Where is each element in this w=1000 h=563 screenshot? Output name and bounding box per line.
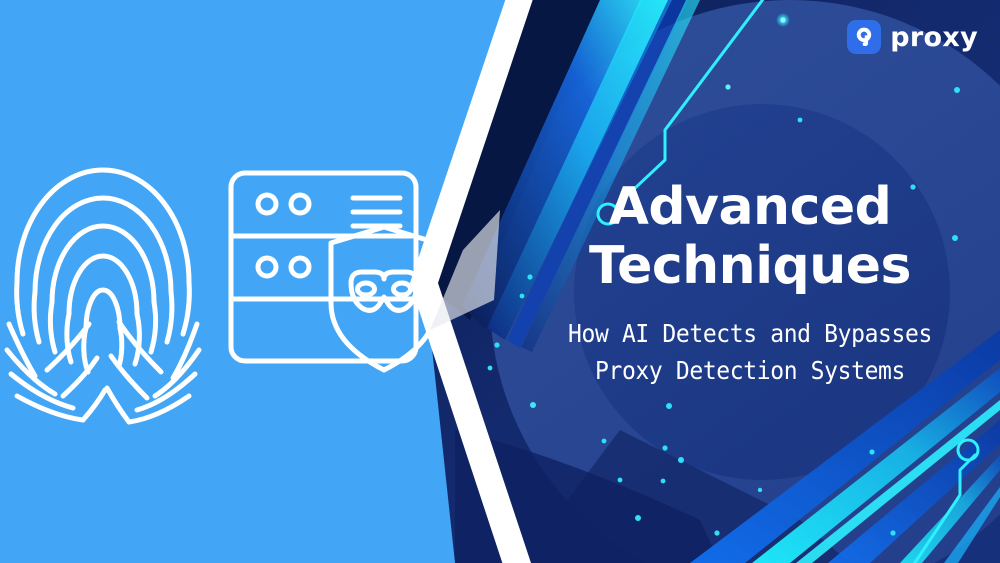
page-title: Advanced Techniques: [520, 178, 980, 297]
headline-line-1: Advanced: [520, 178, 980, 237]
fingerprint-icon: [7, 170, 199, 422]
subtitle-line-2: Proxy Detection Systems: [538, 352, 961, 390]
subtitle-line-1: How AI Detects and Bypasses: [538, 315, 961, 353]
headline-line-2: Techniques: [520, 237, 980, 296]
banner-root: Advanced Techniques How AI Detects and B…: [0, 0, 1000, 563]
headline-block: Advanced Techniques How AI Detects and B…: [520, 178, 980, 390]
brand-logo[interactable]: proxy: [847, 20, 978, 54]
page-subtitle: How AI Detects and Bypasses Proxy Detect…: [538, 315, 961, 390]
proxy-logo-mark-icon: [847, 20, 881, 54]
server-rack-icon: [231, 173, 416, 361]
brand-wordmark: proxy: [890, 24, 978, 51]
